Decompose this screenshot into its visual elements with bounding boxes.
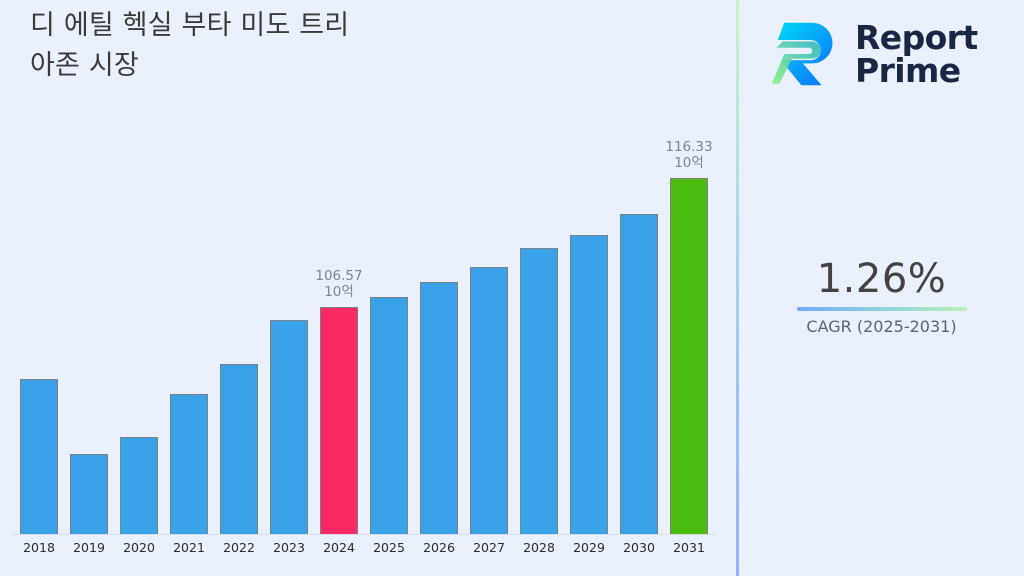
bar-2026[interactable] <box>420 282 458 534</box>
x-axis-tick-2024: 2024 <box>311 540 367 555</box>
bar-2021[interactable] <box>170 394 208 534</box>
x-axis-tick-2030: 2030 <box>611 540 667 555</box>
bar-value-label-2024: 106.57 10억 <box>289 268 389 300</box>
brand-name: Report Prime <box>855 21 978 87</box>
bar-2030[interactable] <box>620 214 658 534</box>
chart-panel: 디 에틸 헥실 부타 미도 트리 아존 시장 20182019202020212… <box>0 0 737 576</box>
bar-2028[interactable] <box>520 248 558 534</box>
x-axis-tick-2023: 2023 <box>261 540 317 555</box>
bar-2020[interactable] <box>120 437 158 534</box>
bar-2024[interactable] <box>320 307 358 534</box>
x-axis-line <box>12 534 715 535</box>
cagr-value: 1.26% <box>739 255 1024 303</box>
x-axis-tick-2018: 2018 <box>11 540 67 555</box>
x-axis-tick-2021: 2021 <box>161 540 217 555</box>
bar-value-label-2031: 116.33 10억 <box>639 139 739 171</box>
bar-2019[interactable] <box>70 454 108 534</box>
cagr-block: 1.26% CAGR (2025-2031) <box>739 255 1024 337</box>
x-axis-tick-2031: 2031 <box>661 540 717 555</box>
report-prime-logo-icon <box>767 15 845 93</box>
bar-2029[interactable] <box>570 235 608 534</box>
cagr-divider-rule <box>797 307 967 311</box>
x-axis-tick-2026: 2026 <box>411 540 467 555</box>
bar-2023[interactable] <box>270 320 308 534</box>
bar-2027[interactable] <box>470 267 508 534</box>
bar-2025[interactable] <box>370 297 408 534</box>
brand-panel: Report Prime 1.26% CAGR (2025-2031) <box>739 0 1024 576</box>
x-axis-tick-2029: 2029 <box>561 540 617 555</box>
brand-logo: Report Prime <box>767 8 1007 100</box>
bar-2031[interactable] <box>670 178 708 534</box>
x-axis-tick-2019: 2019 <box>61 540 117 555</box>
x-axis-tick-2022: 2022 <box>211 540 267 555</box>
bar-2018[interactable] <box>20 379 58 534</box>
x-axis-tick-2028: 2028 <box>511 540 567 555</box>
x-axis-tick-2025: 2025 <box>361 540 417 555</box>
bar-2022[interactable] <box>220 364 258 534</box>
cagr-caption: CAGR (2025-2031) <box>739 317 1024 337</box>
x-axis-tick-2020: 2020 <box>111 540 167 555</box>
x-axis-tick-2027: 2027 <box>461 540 517 555</box>
brand-name-line2: Prime <box>855 51 961 90</box>
infographic-root: 디 에틸 헥실 부타 미도 트리 아존 시장 20182019202020212… <box>0 0 1024 576</box>
bar-chart: 201820192020202120222023106.57 10억202420… <box>0 0 737 576</box>
